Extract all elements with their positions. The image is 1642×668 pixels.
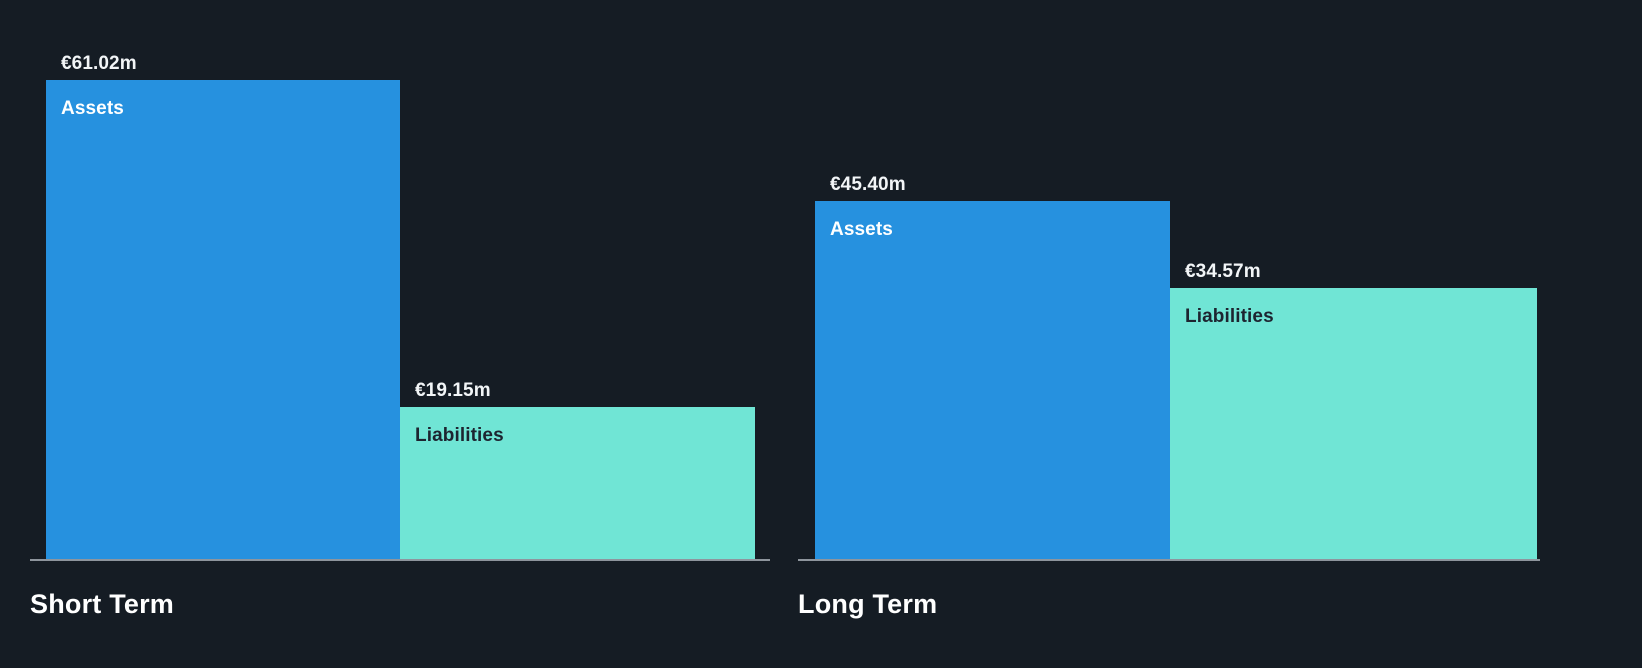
bar-rect-long-term-assets[interactable]: Assets: [815, 201, 1170, 559]
financial-position-chart: €61.02m Assets €19.15m Liabilities Short…: [0, 0, 1642, 668]
bar-series-label-long-term-liabilities: Liabilities: [1185, 306, 1274, 328]
bar-column-short-term-assets[interactable]: €61.02m Assets: [46, 80, 400, 559]
category-label-long-term: Long Term: [798, 589, 937, 620]
bar-series-label-short-term-assets: Assets: [61, 98, 124, 120]
plot-area: €61.02m Assets €19.15m Liabilities Short…: [0, 0, 1642, 668]
bar-rect-short-term-liabilities[interactable]: Liabilities: [400, 407, 755, 559]
bar-column-long-term-assets[interactable]: €45.40m Assets: [815, 201, 1170, 559]
axis-baseline-long-term: [798, 559, 1540, 561]
bar-series-label-short-term-liabilities: Liabilities: [415, 425, 504, 447]
bar-value-label-short-term-assets: €61.02m: [61, 53, 137, 75]
bar-rect-long-term-liabilities[interactable]: Liabilities: [1170, 288, 1537, 559]
bar-value-label-short-term-liabilities: €19.15m: [415, 380, 491, 402]
bar-value-label-long-term-liabilities: €34.57m: [1185, 261, 1261, 283]
bar-column-long-term-liabilities[interactable]: €34.57m Liabilities: [1170, 288, 1537, 559]
bar-column-short-term-liabilities[interactable]: €19.15m Liabilities: [400, 407, 755, 559]
axis-baseline-short-term: [30, 559, 770, 561]
bar-rect-short-term-assets[interactable]: Assets: [46, 80, 400, 559]
bar-series-label-long-term-assets: Assets: [830, 219, 893, 241]
category-label-short-term: Short Term: [30, 589, 174, 620]
bar-value-label-long-term-assets: €45.40m: [830, 174, 906, 196]
